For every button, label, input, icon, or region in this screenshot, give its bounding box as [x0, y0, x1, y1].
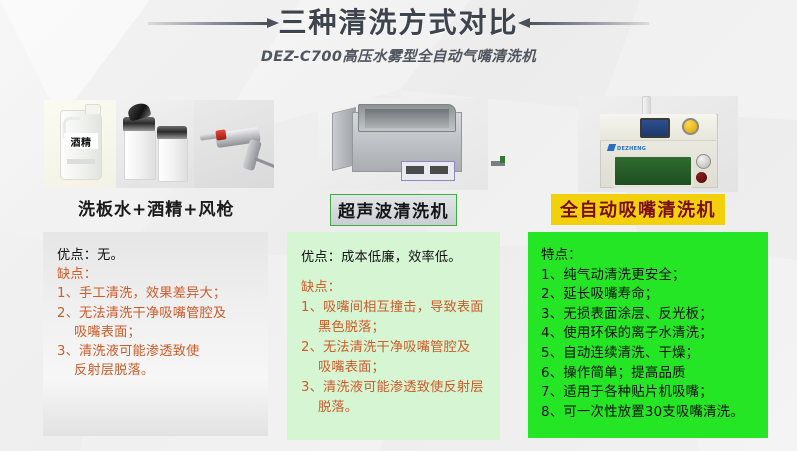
slide-canvas: 三种清洗方式对比 DEZ-C700高压水雾型全自动气嘴清洗机 酒精 [0, 0, 797, 451]
arrow-left-icon [148, 22, 268, 25]
dispenser-cap-small [157, 126, 187, 139]
ultrasonic-display-time [406, 166, 424, 174]
jug-label-text: 酒精 [71, 134, 92, 149]
comparison-line: 缺点： [301, 278, 496, 298]
arrow-right-icon [529, 22, 649, 25]
comparison-line: 反射层脱落。 [57, 361, 262, 380]
comparison-line: 特点： [541, 246, 764, 266]
comparison-line: 黑色脱落； [301, 318, 496, 338]
ultrasonic-display-temp [430, 166, 448, 174]
comparison-line: 1、吸嘴间相互撞击，导致表面 [301, 298, 496, 318]
comparison-line: 8、可一次性放置30支吸嘴清洗。 [541, 403, 764, 423]
comparison-line: 脱落。 [301, 398, 496, 418]
comparison-panel-manual: 优点：无。缺点：1、手工清洗，效果差异大；2、无法清洗干净吸嘴管腔及吸嘴表面；3… [43, 232, 268, 436]
ultrasonic-tank-interior [365, 109, 449, 128]
ultrasonic-drain-valve [491, 161, 505, 166]
page-subtitle: DEZ-C700高压水雾型全自动气嘴清洗机 [0, 45, 797, 66]
comparison-line: 5、自动连续清洗、干燥； [541, 344, 764, 364]
air-gun-red-collar [215, 129, 226, 140]
comparison-panel-ultrasonic: 优点：成本低廉，效率低。缺点：1、吸嘴间相互撞击，导致表面黑色脱落；2、无法清洗… [287, 232, 500, 440]
comparison-line: 4、使用环保的离子水清洗； [541, 324, 764, 344]
comparison-line: 优点：无。 [57, 246, 262, 265]
caption-ultrasonic-cleaner: 超声波清洗机 [330, 194, 457, 226]
ultrasonic-cleaner-photo [318, 98, 488, 190]
pressure-gauge-icon [696, 154, 711, 169]
comparison-line: 缺点： [57, 265, 262, 284]
text-spacer [301, 268, 496, 278]
alcohol-jug-photo: 酒精 [44, 100, 116, 188]
dispenser-bottle-small [158, 138, 188, 182]
caption-manual-cleaning: 洗板水+酒精+风枪 [78, 195, 235, 220]
comparison-line: 1、手工清洗，效果差异大； [57, 284, 262, 303]
ultrasonic-control-panel [401, 161, 455, 181]
comparison-line: 3、无损表面涂层、反光板； [541, 305, 764, 325]
dispenser-bottle-large [124, 130, 156, 180]
jug-label: 酒精 [64, 133, 98, 149]
air-gun-photo [194, 100, 274, 188]
machine-door-window [612, 154, 694, 188]
comparison-panel-ultrasonic-text: 优点：成本低廉，效率低。缺点：1、吸嘴间相互撞击，导致表面黑色脱落；2、无法清洗… [287, 232, 500, 418]
comparison-line: 2、无法清洗干净吸嘴管腔及 [57, 304, 262, 323]
comparison-line: 6、操作简单；提高品质 [541, 364, 764, 384]
comparison-line: 吸嘴表面； [301, 358, 496, 378]
comparison-line: 吸嘴表面； [57, 323, 262, 342]
comparison-line: 3、清洗液可能渗透致使 [57, 342, 262, 361]
comparison-line: 优点：成本低廉，效率低。 [301, 248, 496, 268]
slide-header: 三种清洗方式对比 DEZ-C700高压水雾型全自动气嘴清洗机 [0, 8, 797, 66]
jug-icon: 酒精 [60, 110, 102, 180]
machine-logo: DEZHENG [608, 144, 646, 152]
machine-screen [640, 118, 670, 138]
product-photo-manual-cleaning: 酒精 [44, 100, 274, 188]
comparison-line: 2、无法清洗干净吸嘴管腔及 [301, 338, 496, 358]
comparison-line: 1、纯气动清洗更安全； [541, 266, 764, 286]
comparison-line: 7、适用于各种贴片机吸嘴； [541, 383, 764, 403]
comparison-panel-manual-text: 优点：无。缺点：1、手工清洗，效果差异大；2、无法清洗干净吸嘴管腔及吸嘴表面；3… [43, 232, 268, 380]
air-gun-hose [254, 157, 274, 170]
comparison-panel-automatic-text: 特点：1、纯气动清洗更安全；2、延长吸嘴寿命；3、无损表面涂层、反光板；4、使用… [528, 232, 768, 422]
comparison-panel-automatic: 特点：1、纯气动清洗更安全；2、延长吸嘴寿命；3、无损表面涂层、反光板；4、使用… [528, 232, 768, 438]
comparison-line: 3、清洗液可能渗透致使反射层 [301, 378, 496, 398]
page-title: 三种清洗方式对比 [278, 8, 518, 39]
title-row: 三种清洗方式对比 [0, 8, 797, 39]
jug-sublabel [67, 159, 95, 164]
caption-automatic-nozzle-cleaner: 全自动吸嘴清洗机 [551, 194, 725, 225]
emergency-stop-button[interactable] [682, 118, 699, 135]
comparison-line: 2、延长吸嘴寿命； [541, 285, 764, 305]
jug-neck-icon [85, 104, 101, 114]
machine-knob[interactable] [696, 172, 707, 183]
solvent-dispenser-photo [116, 100, 194, 188]
ultrasonic-tank [358, 104, 456, 132]
automatic-nozzle-cleaner-photo: DEZHENG [578, 96, 738, 192]
